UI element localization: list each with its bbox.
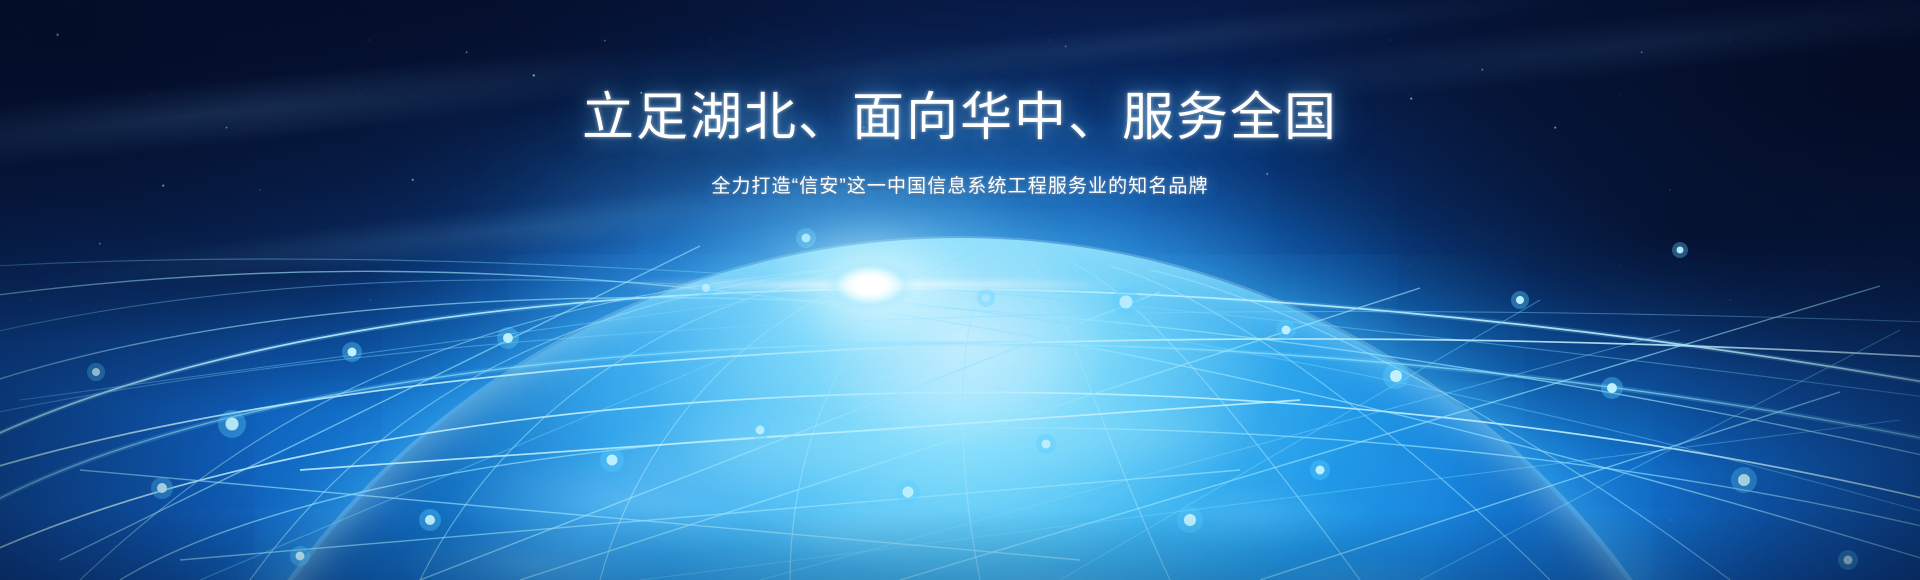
banner-headline: 立足湖北、面向华中、服务全国 bbox=[0, 88, 1920, 149]
banner-subline: 全力打造“信安”这一中国信息系统工程服务业的知名品牌 bbox=[0, 171, 1920, 198]
hero-banner: 立足湖北、面向华中、服务全国 全力打造“信安”这一中国信息系统工程服务业的知名品… bbox=[0, 0, 1920, 580]
banner-text-block: 立足湖北、面向华中、服务全国 全力打造“信安”这一中国信息系统工程服务业的知名品… bbox=[0, 88, 1920, 198]
